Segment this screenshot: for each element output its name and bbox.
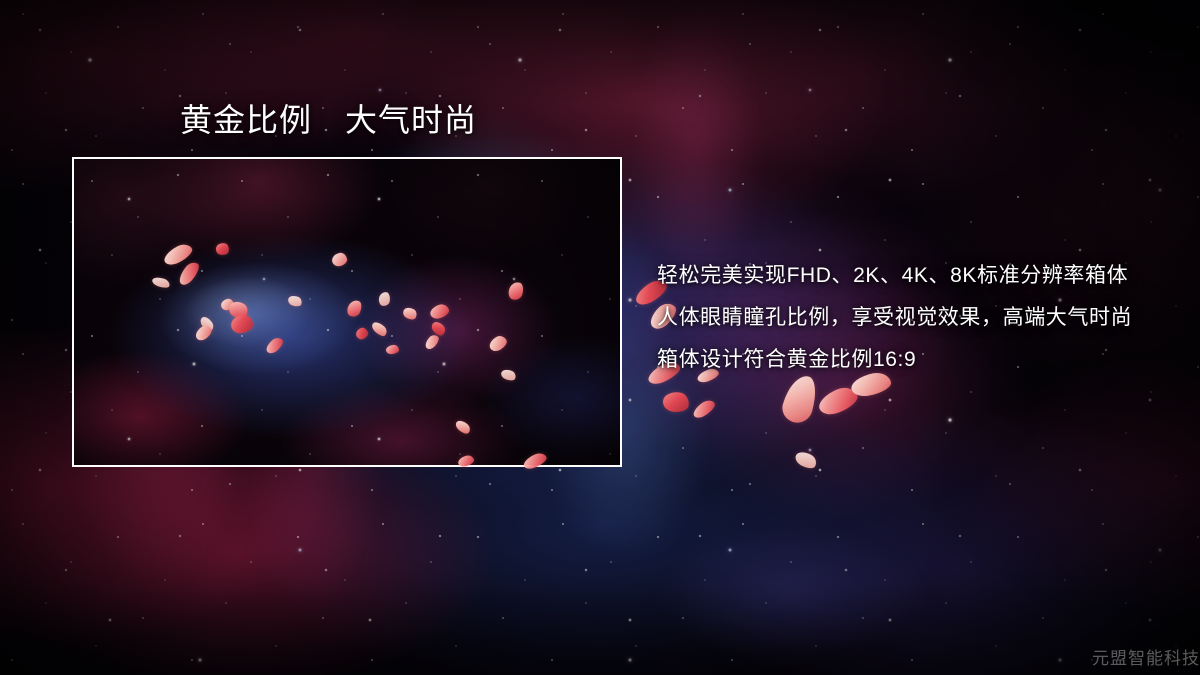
- body-line-3: 箱体设计符合黄金比例16:9: [657, 339, 1157, 381]
- presentation-slide: 黄金比例 大气时尚 轻松完美实现FHD、2K、4K、8K标准分辨率箱体 人体眼睛…: [0, 0, 1200, 675]
- nebula-image-panel: [72, 157, 622, 467]
- body-line-2: 人体眼睛瞳孔比例，享受视觉效果，高端大气时尚: [657, 297, 1157, 339]
- body-line-1: 轻松完美实现FHD、2K、4K、8K标准分辨率箱体: [657, 255, 1157, 297]
- watermark: 元盟智能科技: [1092, 644, 1200, 669]
- body-text-block: 轻松完美实现FHD、2K、4K、8K标准分辨率箱体 人体眼睛瞳孔比例，享受视觉效…: [657, 255, 1157, 381]
- panel-vignette: [74, 159, 620, 465]
- page-title: 黄金比例 大气时尚: [180, 100, 477, 140]
